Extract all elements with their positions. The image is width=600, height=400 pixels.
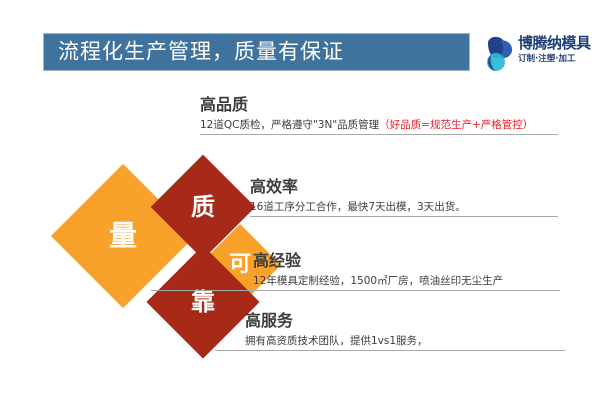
header-bar: 流程化生产管理，质量有保证 bbox=[43, 33, 470, 71]
feature-underline bbox=[250, 216, 558, 217]
feature-highlight: （好品质=规范生产+严格管控） bbox=[379, 119, 533, 131]
brand-logo[interactable]: 博腾纳模具 订制·注塑·加工 bbox=[482, 33, 592, 75]
feature-description: 拥有高资质技术团队，提供1vs1服务， bbox=[245, 335, 565, 348]
feature-description-text: 16道工序分工合作，最快7天出模，3天出货。 bbox=[250, 201, 466, 213]
diamond-liang-label: 量 bbox=[109, 222, 137, 250]
feature-underline bbox=[200, 134, 558, 135]
feature-block-high-experience: 高经验 12年模具定制经验，1500㎡厂房，喷油丝印无尘生产 bbox=[253, 252, 560, 291]
feature-block-high-service: 高服务 拥有高资质技术团队，提供1vs1服务， bbox=[245, 312, 565, 351]
feature-block-high-efficiency: 高效率 16道工序分工合作，最快7天出模，3天出货。 bbox=[250, 178, 560, 217]
page-title: 流程化生产管理，质量有保证 bbox=[58, 42, 344, 63]
logo-tagline: 订制·注塑·加工 bbox=[518, 54, 594, 64]
feature-description: 16道工序分工合作，最快7天出模，3天出货。 bbox=[250, 201, 560, 214]
diamond-zhi-label: 质 bbox=[191, 195, 215, 219]
feature-title: 高经验 bbox=[253, 252, 560, 270]
feature-title: 高服务 bbox=[245, 312, 565, 330]
diamond-kao-label: 靠 bbox=[191, 290, 215, 314]
feature-title: 高品质 bbox=[200, 96, 560, 114]
feature-title: 高效率 bbox=[250, 178, 560, 196]
droplet-leaf-icon bbox=[482, 35, 516, 73]
feature-description: 12道QC质检，严格遵守"3N"品质管理（好品质=规范生产+严格管控） bbox=[200, 119, 560, 132]
feature-description-text: 12道QC质检，严格遵守"3N"品质管理 bbox=[200, 119, 379, 131]
feature-description-text: 拥有高资质技术团队，提供1vs1服务， bbox=[245, 335, 428, 347]
logo-text: 博腾纳模具 订制·注塑·加工 bbox=[518, 36, 594, 64]
feature-underline bbox=[215, 350, 565, 351]
logo-company-name: 博腾纳模具 bbox=[518, 36, 594, 52]
feature-block-high-quality: 高品质 12道QC质检，严格遵守"3N"品质管理（好品质=规范生产+严格管控） bbox=[200, 96, 560, 135]
diamond-ke-label: 可 bbox=[229, 254, 251, 276]
feature-description-text: 12年模具定制经验，1500㎡厂房，喷油丝印无尘生产 bbox=[253, 275, 503, 287]
feature-underline bbox=[151, 290, 560, 291]
feature-description: 12年模具定制经验，1500㎡厂房，喷油丝印无尘生产 bbox=[253, 275, 560, 288]
